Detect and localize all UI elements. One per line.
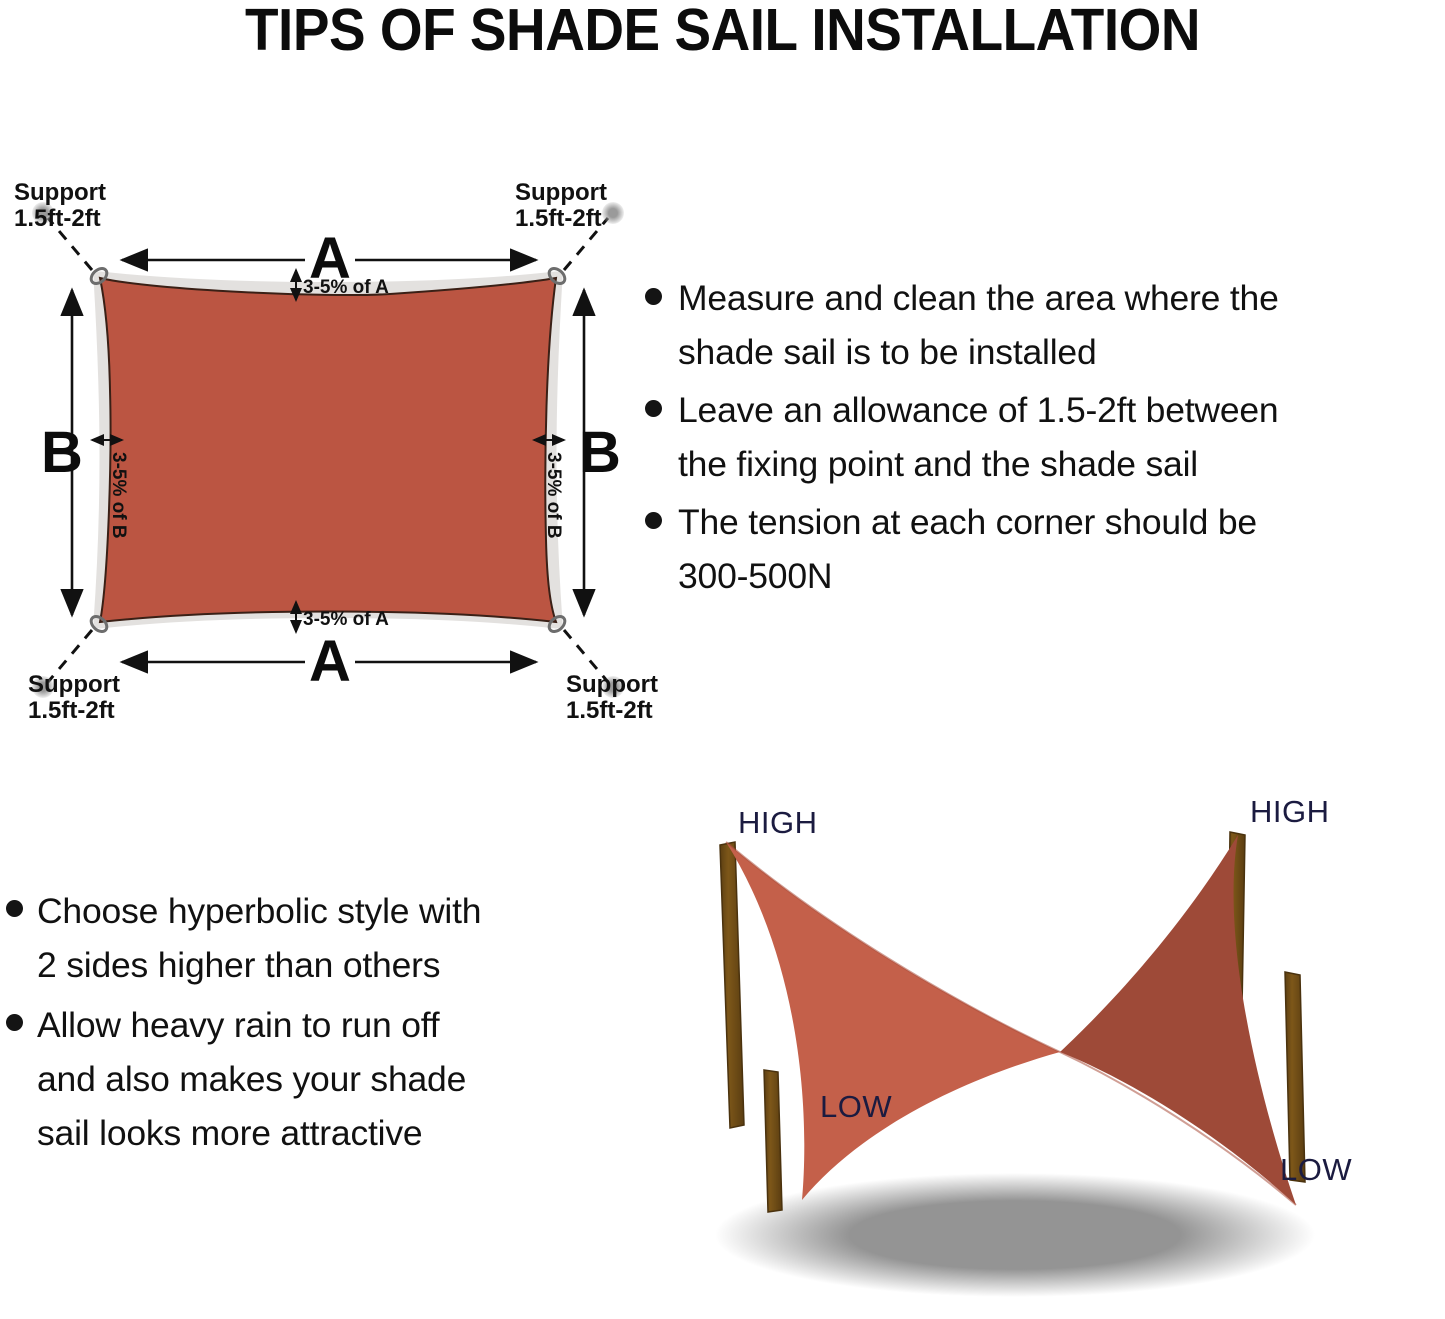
- bullet-icon: [645, 512, 662, 529]
- dimension-label-right-B: B: [579, 420, 621, 485]
- corner-label-low-right: LOW: [1280, 1152, 1352, 1187]
- curvature-label-left: 3-5% of B: [108, 452, 129, 539]
- page-title: TIPS OF SHADE SAIL INSTALLATION: [51, 0, 1395, 60]
- tips-list-top: Measure and clean the area where the sha…: [645, 272, 1445, 608]
- curvature-label-bottom: 3-5% of A: [303, 609, 389, 630]
- post-front-left: [764, 1070, 782, 1212]
- bullet-icon: [645, 288, 662, 305]
- bullet-icon: [6, 900, 23, 917]
- support-label-bottom-right: Support 1.5ft-2ft: [566, 671, 658, 724]
- list-item: The tension at each corner should be 300…: [645, 496, 1445, 604]
- post-front-right: [1285, 972, 1305, 1182]
- shade-sail-shape: [100, 278, 556, 622]
- bullet-icon: [645, 400, 662, 417]
- list-item: Measure and clean the area where the sha…: [645, 272, 1445, 380]
- support-label-line1: Support: [28, 671, 120, 698]
- corner-label-high-right: HIGH: [1250, 794, 1330, 829]
- tip-text: Choose hyperbolic style with 2 sides hig…: [37, 885, 481, 993]
- rectangular-shade-sail-dimension-diagram: Support 1.5ft-2ft Support 1.5ft-2ft Supp…: [0, 160, 660, 730]
- support-label-bottom-left: Support 1.5ft-2ft: [28, 671, 120, 724]
- support-label-top-left: Support 1.5ft-2ft: [14, 179, 106, 232]
- tip-text: Measure and clean the area where the sha…: [678, 272, 1279, 380]
- support-label-line2: 1.5ft-2ft: [28, 697, 115, 724]
- curvature-callout-left: 3-5% of B: [92, 440, 129, 539]
- support-label-line1: Support: [566, 671, 658, 698]
- tip-line: 300-500N: [678, 556, 832, 596]
- tip-line: The tension at each corner should be: [678, 502, 1257, 542]
- tip-line: sail looks more attractive: [37, 1113, 422, 1153]
- tip-text: Leave an allowance of 1.5-2ft between th…: [678, 384, 1278, 492]
- tip-line: shade sail is to be installed: [678, 332, 1096, 372]
- support-label-top-right: Support 1.5ft-2ft: [515, 179, 607, 232]
- support-label-line2: 1.5ft-2ft: [566, 697, 653, 724]
- list-item: Allow heavy rain to run off and also mak…: [6, 999, 626, 1161]
- tip-text: The tension at each corner should be 300…: [678, 496, 1257, 604]
- tip-line: 2 sides higher than others: [37, 945, 440, 985]
- support-label-line1: Support: [515, 179, 607, 206]
- support-label-line1: Support: [14, 179, 106, 206]
- tip-text: Allow heavy rain to run off and also mak…: [37, 999, 466, 1161]
- curvature-label-right: 3-5% of B: [543, 452, 564, 539]
- corner-label-low-left: LOW: [820, 1089, 892, 1124]
- sail-lobe-back: [1060, 835, 1296, 1205]
- tip-line: the fixing point and the shade sail: [678, 444, 1198, 484]
- post-back-left: [720, 842, 744, 1128]
- curvature-label-top: 3-5% of A: [303, 277, 389, 298]
- list-item: Choose hyperbolic style with 2 sides hig…: [6, 885, 626, 993]
- tip-line: Choose hyperbolic style with: [37, 891, 481, 931]
- hyperbolic-shade-sail-illustration: HIGH HIGH LOW LOW: [660, 780, 1445, 1319]
- tip-line: Measure and clean the area where the: [678, 278, 1279, 318]
- bullet-icon: [6, 1014, 23, 1031]
- tips-list-bottom: Choose hyperbolic style with 2 sides hig…: [6, 885, 626, 1167]
- support-label-line2: 1.5ft-2ft: [515, 205, 602, 232]
- list-item: Leave an allowance of 1.5-2ft between th…: [645, 384, 1445, 492]
- dimension-label-bottom-A: A: [309, 629, 351, 694]
- tip-line: Allow heavy rain to run off: [37, 1005, 439, 1045]
- tip-line: and also makes your shade: [37, 1059, 466, 1099]
- support-label-line2: 1.5ft-2ft: [14, 205, 101, 232]
- corner-label-high-left: HIGH: [738, 805, 818, 840]
- dimension-label-left-B: B: [41, 420, 83, 485]
- tip-line: Leave an allowance of 1.5-2ft between: [678, 390, 1278, 430]
